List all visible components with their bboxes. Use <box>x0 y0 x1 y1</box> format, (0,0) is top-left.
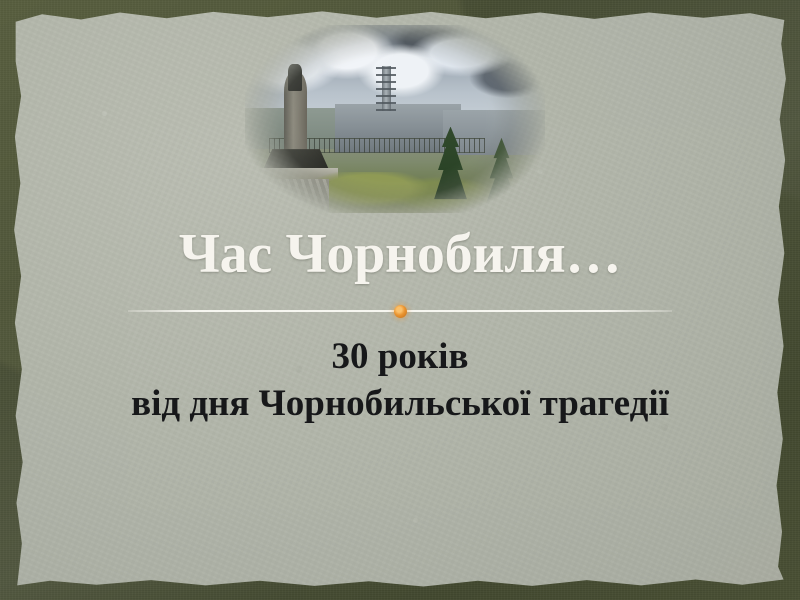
photo-vignette <box>245 25 545 213</box>
orange-dot-ornament-icon <box>394 305 407 318</box>
subtitle-line-2: від дня Чорнобильської трагедії <box>0 380 800 427</box>
subtitle-line-1: 30 років <box>0 333 800 380</box>
slide-content: Час Чорнобиля… 30 років від дня Чорнобил… <box>0 0 800 600</box>
chernobyl-photo <box>245 25 545 213</box>
slide-subtitle: 30 років від дня Чорнобильської трагедії <box>0 333 800 427</box>
slide-title: Час Чорнобиля… <box>0 222 800 286</box>
presentation-slide: Час Чорнобиля… 30 років від дня Чорнобил… <box>0 0 800 600</box>
photo-canvas <box>245 25 545 213</box>
title-divider <box>128 310 672 312</box>
